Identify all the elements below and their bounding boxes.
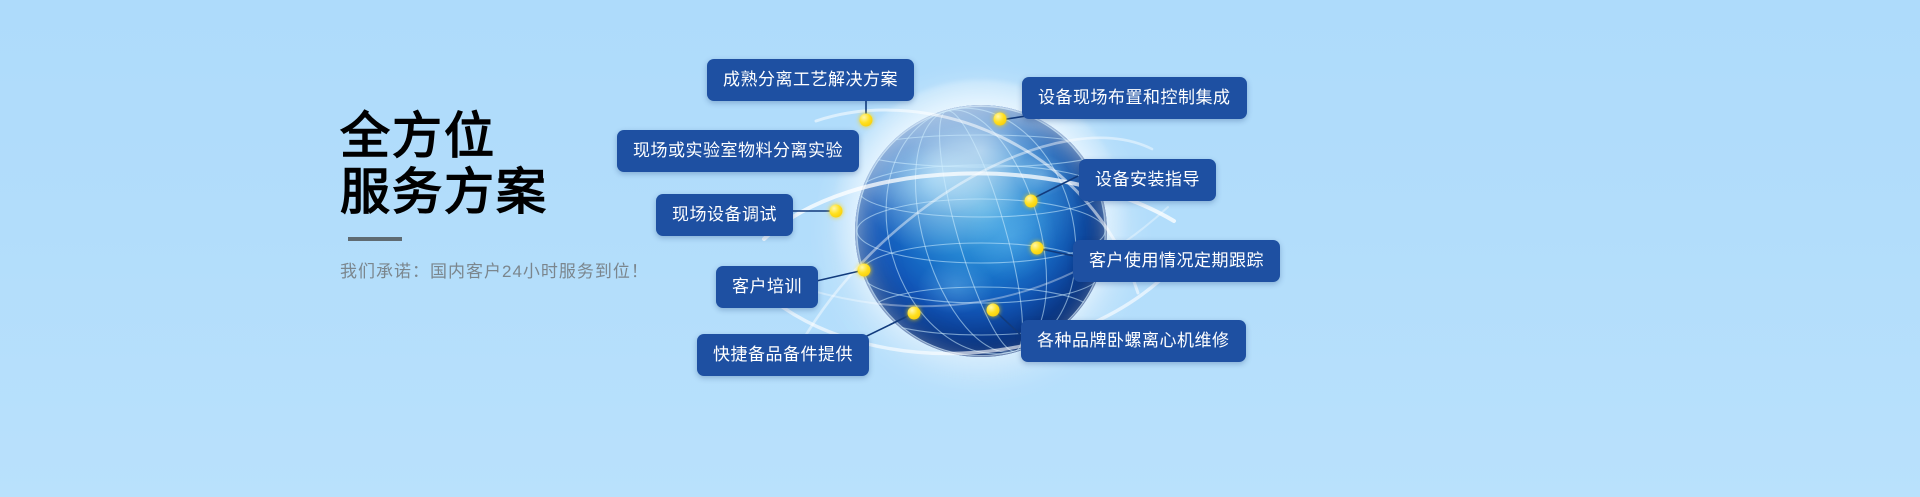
service-label-equipment-installation-guidance[interactable]: 设备安装指导 (1079, 159, 1216, 201)
globe-anchor-dot (1031, 242, 1044, 255)
service-label-mature-process-solution[interactable]: 成熟分离工艺解决方案 (707, 59, 914, 101)
label-connector-lines (0, 0, 1920, 497)
service-label-periodic-customer-usage-tracking[interactable]: 客户使用情况定期跟踪 (1073, 240, 1280, 282)
globe-anchor-dot (858, 264, 871, 277)
service-label-equipment-layout-and-control-integration[interactable]: 设备现场布置和控制集成 (1022, 77, 1247, 119)
service-label-onsite-equipment-commissioning[interactable]: 现场设备调试 (656, 194, 793, 236)
service-label-fast-spare-parts-supply[interactable]: 快捷备品备件提供 (697, 334, 869, 376)
service-label-customer-training[interactable]: 客户培训 (716, 266, 818, 308)
globe-anchor-dot (860, 114, 873, 127)
globe-anchor-dot (994, 113, 1007, 126)
globe-anchor-dot (1025, 195, 1038, 208)
globe-anchor-dot (987, 304, 1000, 317)
service-plan-banner: 全方位 服务方案 我们承诺：国内客户24小时服务到位！ (0, 0, 1920, 497)
globe-anchor-dot (830, 205, 843, 218)
globe-anchor-dot (908, 307, 921, 320)
service-label-onsite-or-lab-material-separation-test[interactable]: 现场或实验室物料分离实验 (617, 130, 859, 172)
service-label-all-brand-decanter-centrifuge-repair[interactable]: 各种品牌卧螺离心机维修 (1021, 320, 1246, 362)
